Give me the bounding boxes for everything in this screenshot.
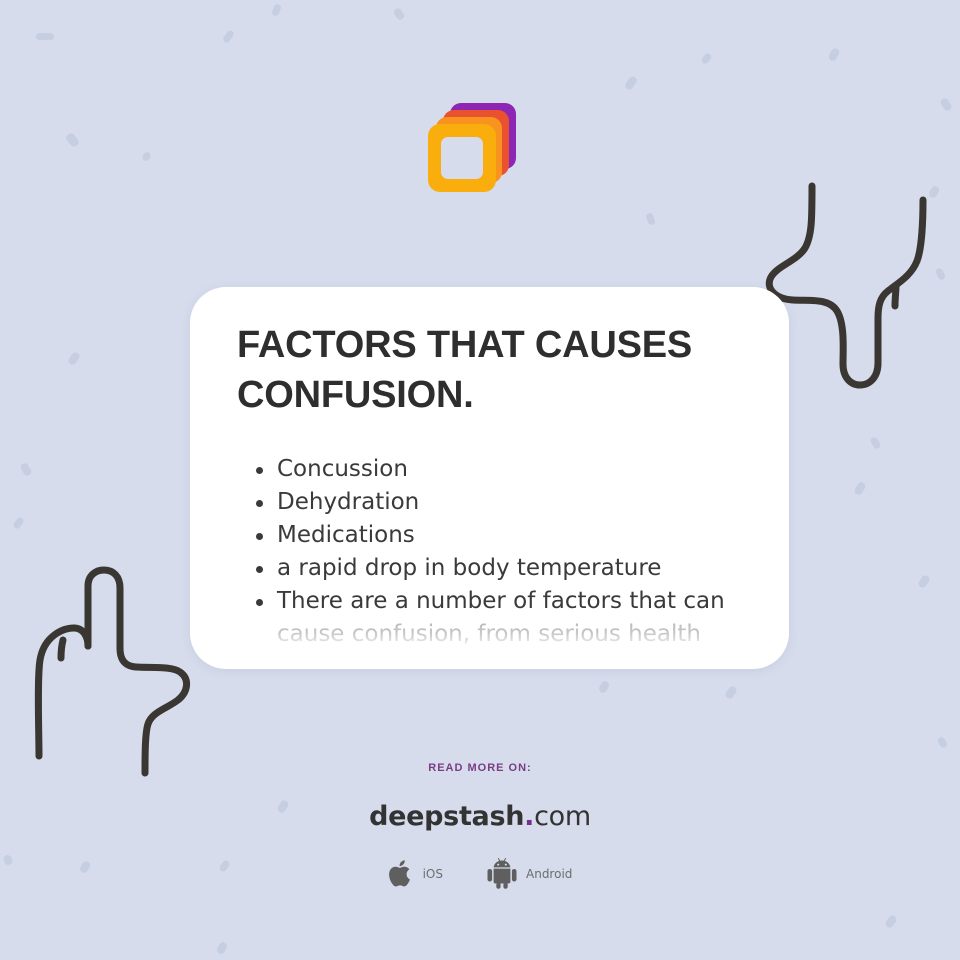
confetti-mark — [67, 351, 81, 366]
brand-tld: com — [534, 801, 591, 832]
list-item-label: Dehydration — [277, 489, 419, 515]
confetti-mark — [36, 33, 54, 40]
confetti-mark — [271, 3, 282, 17]
confetti-mark — [222, 29, 235, 44]
confetti-mark — [869, 436, 881, 450]
confetti-mark — [645, 212, 656, 226]
confetti-mark — [724, 685, 738, 700]
confetti-mark — [937, 736, 949, 749]
ios-label: iOS — [423, 867, 443, 881]
bullet-dot-icon — [256, 500, 263, 507]
list-item: a rapid drop in body temperature — [237, 552, 755, 585]
deepstash-wordmark[interactable]: deepstash.com — [0, 801, 960, 832]
confetti-mark — [141, 151, 152, 162]
app-store-badges: iOS Android — [0, 858, 960, 889]
list-item-label: Concussion — [277, 456, 408, 482]
confetti-mark — [392, 7, 405, 21]
logo-cutout — [441, 137, 483, 179]
footer: READ MORE ON: deepstash.com iOS — [0, 762, 960, 889]
list-item: There are a number of factors that canca… — [237, 585, 755, 651]
list-item-label: There are a number of factors that can — [277, 588, 725, 614]
android-label: Android — [526, 867, 572, 881]
ios-store-badge[interactable]: iOS — [388, 858, 443, 889]
list-item-continuation: cause confusion, from serious health — [277, 618, 755, 651]
confetti-mark — [624, 75, 639, 91]
confetti-mark — [935, 267, 946, 281]
brand-dot: . — [524, 801, 534, 832]
list-item-label: a rapid drop in body temperature — [277, 555, 661, 581]
confetti-mark — [65, 132, 81, 149]
read-more-label: READ MORE ON: — [0, 762, 960, 774]
deepstash-logo-icon — [428, 103, 520, 195]
confetti-mark — [884, 914, 898, 929]
list-item-label: Medications — [277, 522, 415, 548]
confetti-mark — [917, 574, 931, 589]
page-title: FACTORS THAT CAUSES CONFUSION. — [237, 320, 755, 420]
apple-icon — [388, 858, 414, 889]
confetti-mark — [19, 462, 32, 477]
hand-pointing-up-icon — [28, 566, 203, 781]
confetti-mark — [853, 481, 866, 496]
confetti-mark — [700, 52, 712, 65]
list-item: Medications — [237, 519, 755, 552]
confetti-mark — [12, 516, 25, 530]
confetti-mark — [827, 47, 840, 62]
confetti-mark — [598, 680, 611, 694]
idea-card: FACTORS THAT CAUSES CONFUSION. Concussio… — [190, 287, 789, 669]
list-item: Concussion — [237, 453, 755, 486]
deepstash-poster: FACTORS THAT CAUSES CONFUSION. Concussio… — [0, 0, 960, 960]
list-item: Dehydration — [237, 486, 755, 519]
android-store-badge[interactable]: Android — [487, 858, 572, 889]
brand-name: deepstash — [369, 801, 524, 832]
confetti-mark — [939, 97, 953, 112]
bullet-dot-icon — [256, 566, 263, 573]
bullet-dot-icon — [256, 599, 263, 606]
android-icon — [487, 858, 517, 889]
confetti-mark — [216, 941, 229, 955]
factor-list: ConcussionDehydrationMedicationsa rapid … — [237, 453, 755, 651]
bullet-dot-icon — [256, 467, 263, 474]
card-content: FACTORS THAT CAUSES CONFUSION. Concussio… — [237, 320, 755, 651]
bullet-dot-icon — [256, 533, 263, 540]
confetti-mark — [928, 185, 941, 199]
